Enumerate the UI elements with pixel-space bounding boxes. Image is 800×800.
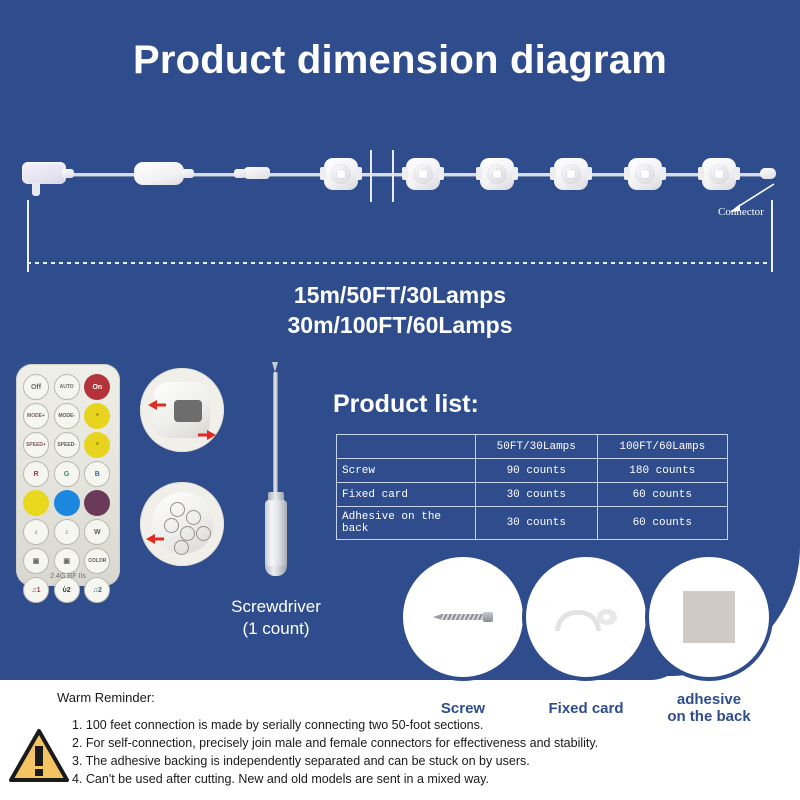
end-connector-icon [760,168,776,179]
screwdriver-shaft [273,372,278,495]
remote-button-14[interactable] [84,490,110,516]
accessory-circle-screw [399,553,527,681]
table-header-row: 50FT/30Lamps 100FT/60Lamps [337,435,728,459]
row-100ft: 180 counts [597,459,727,483]
module-tab [734,167,740,180]
dimension-label-100ft: 30m/100FT/60Lamps [0,312,800,339]
cut-mark-left [370,150,372,202]
table-row: Adhesive on the back 30 counts 60 counts [337,507,728,540]
remote-mini-button [196,526,211,541]
remote-button-7[interactable]: SPEED- [54,432,80,458]
row-50ft: 90 counts [476,459,598,483]
remote-button-0[interactable]: Off [23,374,49,400]
module-tab [586,167,592,180]
dimension-label-50ft: 15m/50FT/30Lamps [0,282,800,309]
red-arrow-icon [148,400,166,410]
remote-mini-button [186,510,201,525]
remote-button-22[interactable]: ὑ2 [54,577,80,603]
product-dimension-diagram-page: Product dimension diagram [0,0,800,800]
row-item: Screw [337,459,476,483]
remote-button-6[interactable]: SPEED+ [23,432,49,458]
row-50ft: 30 counts [476,507,598,540]
remote-button-label: MODE- [58,413,75,419]
reminder-item-4: 4. Can't be used after cutting. New and … [72,770,598,788]
remote-button-2[interactable]: On [84,374,110,400]
remote-button-8[interactable]: * [84,432,110,458]
remote-button-label: ♪ [34,529,38,536]
accessory-label-adhesive-line1: adhesive [634,691,784,708]
module-tab [438,167,444,180]
table-row: Screw 90 counts 180 counts [337,459,728,483]
remote-detail-inset-2 [140,482,224,566]
screw-head [483,612,493,622]
remote-button-16[interactable]: ♪ [54,519,80,545]
connector-pin-icon [234,169,246,178]
warning-triangle-icon [8,728,70,784]
red-arrow-icon [198,430,216,440]
led-module [480,158,514,190]
remote-button-grid[interactable]: OffAUTOOnMODE+MODE-*SPEED+SPEED-*RGB♪♪W▣… [23,374,113,603]
led-lens [487,164,507,184]
remote-mini-button [174,540,189,555]
warm-reminder-list: 1. 100 feet connection is made by serial… [72,716,598,788]
led-module [324,158,358,190]
remote-button-label: COLOR [88,558,106,564]
screwdriver-count: (1 count) [176,618,376,640]
reminder-item-2: 2. For self-connection, precisely join m… [72,734,598,752]
remote-button-label: AUTO [60,384,74,390]
remote-button-11[interactable]: B [84,461,110,487]
remote-button-label: * [96,413,99,420]
remote-model-label: 2.4G RF IIs [16,573,120,580]
row-100ft: 60 counts [597,507,727,540]
module-tab [550,167,556,180]
screw-icon [433,612,493,622]
product-list-table: 50FT/30Lamps 100FT/60Lamps Screw 90 coun… [336,434,728,540]
module-tab [624,167,630,180]
led-module [554,158,588,190]
module-tab [698,167,704,180]
led-lens [331,164,351,184]
led-lens [635,164,655,184]
wire-segment [662,173,702,176]
remote-button-19[interactable]: ▣ [54,548,80,574]
table-header-blank [337,435,476,459]
wire-segment [514,173,554,176]
remote-button-label: * [96,442,99,449]
module-detail-inset-1 [140,368,224,452]
wire-segment [358,173,406,176]
remote-button-label: SPEED+ [26,442,46,448]
led-lens [709,164,729,184]
remote-button-label: On [92,384,102,391]
row-100ft: 60 counts [597,483,727,507]
module-tab [356,167,362,180]
wire-segment [588,173,628,176]
remote-button-4[interactable]: MODE- [54,403,80,429]
screwdriver-tip [272,362,278,372]
remote-button-23[interactable]: ♫2 [84,577,110,603]
remote-button-9[interactable]: R [23,461,49,487]
row-50ft: 30 counts [476,483,598,507]
controller-connector-icon [182,169,194,178]
table-header-50ft: 50FT/30Lamps [476,435,598,459]
led-lens [413,164,433,184]
remote-button-17[interactable]: W [84,519,110,545]
card-arc [555,610,601,631]
dimension-dotted-line [27,262,773,264]
screw-shank [441,614,485,620]
remote-button-5[interactable]: * [84,403,110,429]
remote-mini-button [180,526,195,541]
connector-label: Connector [718,206,764,218]
cut-mark-right [392,150,394,202]
warm-reminder-title: Warm Reminder: [57,690,155,705]
remote-button-label: ♪ [65,529,69,536]
remote-button-1[interactable]: AUTO [54,374,80,400]
product-list-heading: Product list: [333,390,479,419]
remote-button-13[interactable] [54,490,80,516]
remote-button-label: MODE+ [27,413,45,419]
remote-button-label: ♫1 [31,587,40,594]
remote-button-label: ▣ [63,557,70,565]
module-tab [512,167,518,180]
remote-button-label: ♫2 [93,587,102,594]
remote-button-label: ὑ2 [63,587,71,594]
accessory-label-adhesive-line2: on the back [634,708,784,725]
led-module [628,158,662,190]
remote-button-label: Off [31,384,41,391]
plug-connector-icon [62,169,74,178]
reminder-item-3: 3. The adhesive backing is independently… [72,752,598,770]
card-eye [597,609,617,625]
screwdriver-name: Screwdriver [176,596,376,618]
row-item: Fixed card [337,483,476,507]
table-header-100ft: 100FT/60Lamps [597,435,727,459]
module-tab [476,167,482,180]
remote-button-10[interactable]: G [54,461,80,487]
led-strip-diagram: Connector [0,140,800,270]
accessory-circle-fixed-card [522,553,650,681]
remote-button-label: ▣ [33,557,40,565]
remote-button-label: W [94,529,101,536]
remote-control[interactable]: OffAUTOOnMODE+MODE-*SPEED+SPEED-*RGB♪♪W▣… [16,364,120,586]
page-title: Product dimension diagram [0,38,800,83]
remote-button-21[interactable]: ♫1 [23,577,49,603]
remote-button-label: R [33,471,38,478]
remote-button-label: G [64,471,69,478]
remote-button-3[interactable]: MODE+ [23,403,49,429]
power-plug-icon [22,162,66,184]
male-female-connector-icon [244,167,270,179]
remote-button-label: B [95,471,100,478]
remote-mini-button [164,518,179,533]
screwdriver-handle [265,500,287,572]
remote-button-15[interactable]: ♪ [23,519,49,545]
inline-controller-icon [134,162,184,185]
led-module [406,158,440,190]
module-tab [402,167,408,180]
red-arrow-icon [146,534,164,544]
module-slot [174,400,202,422]
accessory-circle-adhesive [645,553,773,681]
remote-button-label: SPEED- [57,442,76,448]
wire-segment [66,173,136,176]
adhesive-square-icon [683,591,735,643]
module-tab [660,167,666,180]
wire-segment [440,173,480,176]
remote-button-12[interactable] [23,490,49,516]
table-row: Fixed card 30 counts 60 counts [337,483,728,507]
fixed-card-icon [555,606,617,628]
reminder-item-1: 1. 100 feet connection is made by serial… [72,716,598,734]
remote-button-20[interactable]: COLOR [84,548,110,574]
row-item: Adhesive on the back [337,507,476,540]
module-tab [320,167,326,180]
remote-button-18[interactable]: ▣ [23,548,49,574]
led-lens [561,164,581,184]
remote-mini-button [170,502,185,517]
